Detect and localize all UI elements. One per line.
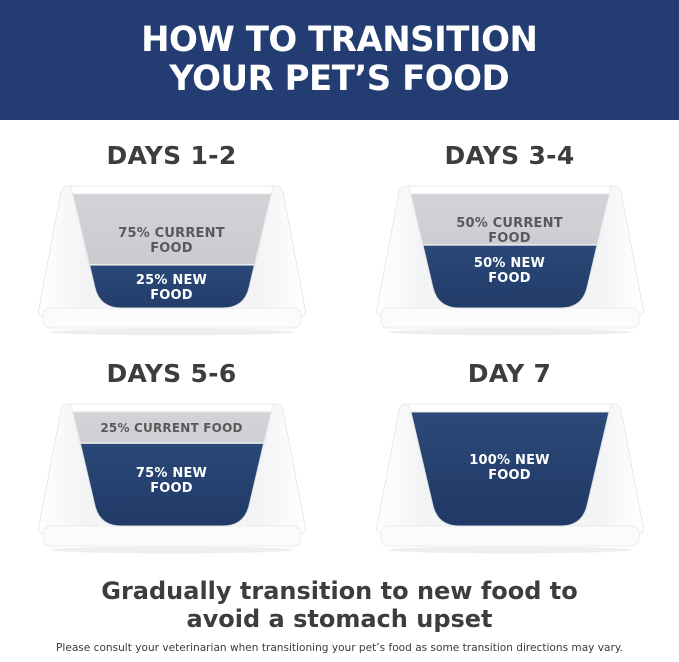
food-bowl-graphic [375, 398, 645, 558]
food-bowl: 25% CURRENT FOOD 75% NEW FOOD [37, 398, 307, 558]
bowl-base [381, 308, 639, 328]
bowl-base [43, 308, 301, 328]
step-title: DAYS 5-6 [2, 358, 341, 390]
transition-step-days-1-2: DAYS 1-2 [2, 140, 341, 362]
bowl-base [381, 526, 639, 546]
transition-step-days-3-4: DAYS 3-4 [340, 140, 679, 362]
food-bowl-graphic [375, 180, 645, 340]
disclaimer-text: Please consult your veterinarian when tr… [14, 641, 666, 655]
tagline-line-1: Gradually transition to new food to [0, 577, 679, 605]
bowl-base [43, 526, 301, 546]
bowl-shadow [388, 547, 632, 554]
food-bowl-graphic [37, 398, 307, 558]
food-bowl: 75% CURRENT FOOD 25% NEW FOOD [37, 180, 307, 340]
page-title-line-1: HOW TO TRANSITION [141, 21, 537, 60]
tagline: Gradually transition to new food to avoi… [0, 577, 679, 633]
transition-step-days-5-6: DAYS 5-6 [2, 358, 341, 580]
tagline-line-2: avoid a stomach upset [0, 605, 679, 633]
step-title: DAYS 1-2 [2, 140, 341, 172]
bowl-shadow [50, 329, 294, 336]
page-header: HOW TO TRANSITION YOUR PET’S FOOD [0, 0, 679, 120]
food-bowl: 100% NEW FOOD [375, 398, 645, 558]
bowl-shadow [50, 547, 294, 554]
step-title: DAYS 3-4 [340, 140, 679, 172]
page-title-line-2: YOUR PET’S FOOD [170, 60, 510, 99]
step-title: DAY 7 [340, 358, 679, 390]
bowl-shadow [388, 329, 632, 336]
transition-steps-grid: DAYS 1-2 [0, 120, 679, 575]
infographic-page: HOW TO TRANSITION YOUR PET’S FOOD DAYS 1… [0, 0, 679, 662]
transition-step-day-7: DAY 7 [340, 358, 679, 580]
food-bowl-graphic [37, 180, 307, 340]
food-bowl: 50% CURRENT FOOD 50% NEW FOOD [375, 180, 645, 340]
